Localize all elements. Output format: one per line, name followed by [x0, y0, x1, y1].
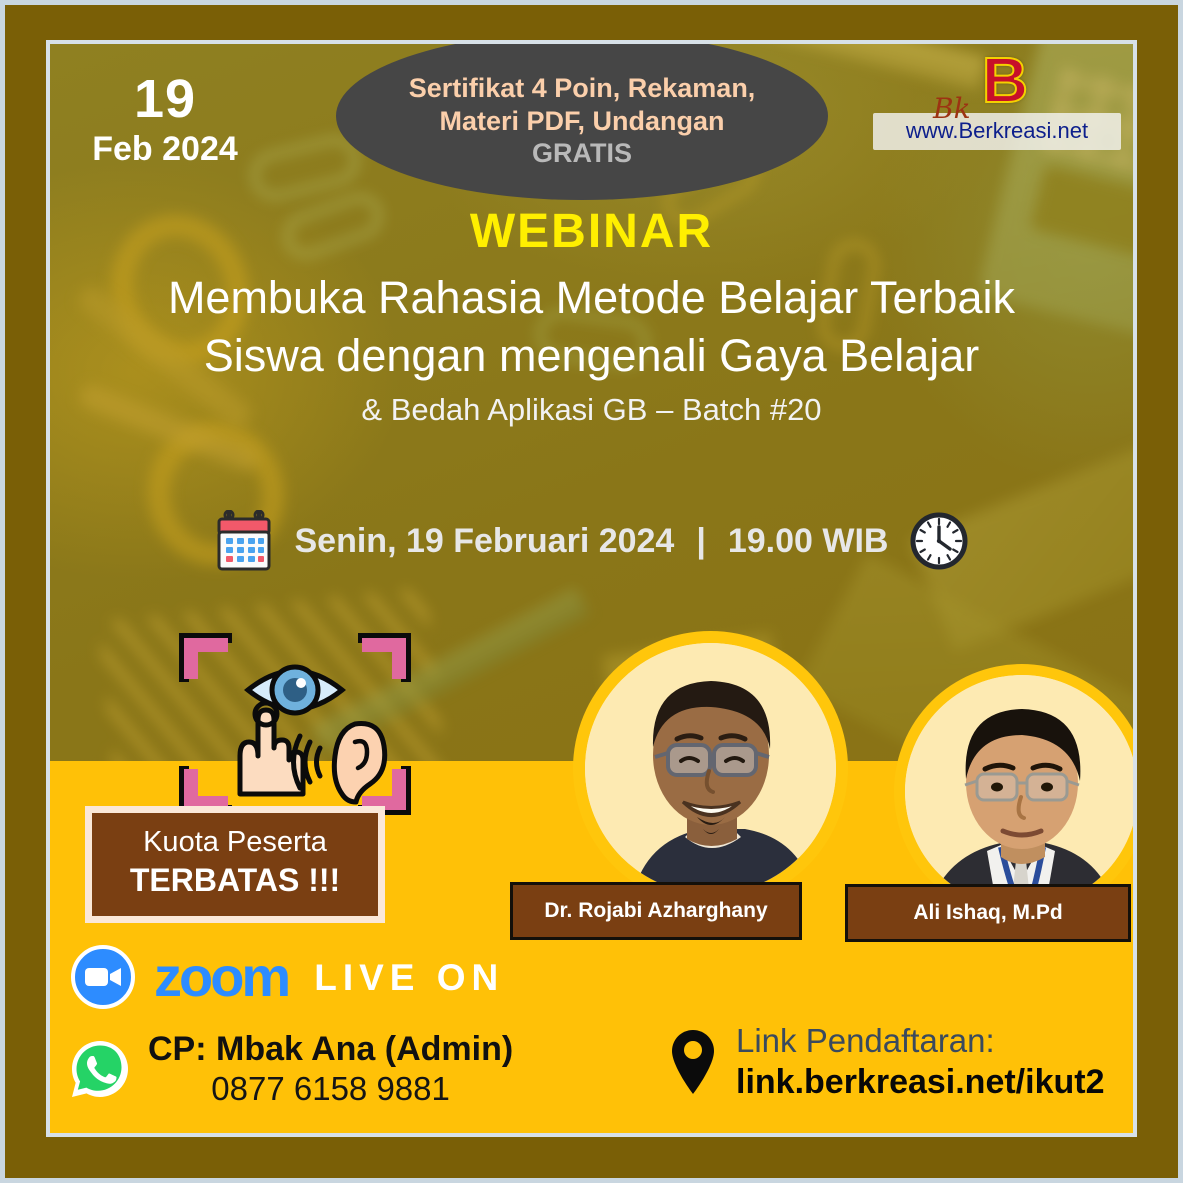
- calendar-icon: [215, 510, 273, 572]
- quota-value: TERBATAS !!!: [98, 861, 372, 899]
- benefits-badge-gratis: GRATIS: [532, 137, 632, 170]
- title-block: WEBINAR Membuka Rahasia Metode Belajar T…: [50, 204, 1133, 428]
- contact-text-block: CP: Mbak Ana (Admin) 0877 6158 9881: [148, 1031, 513, 1111]
- registration-row[interactable]: Link Pendaftaran: link.berkreasi.net/iku…: [668, 1022, 1105, 1103]
- platform-status: LIVE ON: [314, 959, 504, 996]
- schedule-date: Senin, 19 Februari 2024: [295, 522, 675, 561]
- title-subtitle: & Bedah Aplikasi GB – Batch #20: [50, 392, 1133, 428]
- schedule-separator: |: [696, 522, 706, 561]
- zoom-camera-icon: [70, 944, 136, 1010]
- registration-label: Link Pendaftaran:: [736, 1022, 1105, 1060]
- title-line-2: Siswa dengan mengenali Gaya Belajar: [50, 327, 1133, 385]
- platform-row: zoom LIVE ON: [70, 944, 504, 1010]
- webinar-poster: 19 Feb 2024 Sertifikat 4 Poin, Rekaman, …: [0, 0, 1183, 1183]
- benefits-badge-line-1: Sertifikat 4 Poin, Rekaman,: [409, 72, 756, 105]
- speaker-photo-1: [585, 643, 836, 894]
- quota-box: Kuota Peserta TERBATAS !!!: [85, 806, 385, 923]
- speaker-photo-2: [905, 675, 1133, 908]
- title-line-1: Membuka Rahasia Metode Belajar Terbaik: [50, 269, 1133, 327]
- speaker-1-nameplate: Dr. Rojabi Azharghany: [510, 882, 802, 940]
- clock-icon: [910, 512, 968, 570]
- whatsapp-icon: [68, 1031, 132, 1101]
- bg-paperclip-icon: [246, 131, 364, 204]
- speaker-2: [894, 664, 1133, 919]
- brand-logo: B Bk www.Berkreasi.net: [873, 50, 1121, 150]
- date-stamp-month-year: Feb 2024: [90, 132, 240, 166]
- date-stamp-day: 19: [90, 72, 240, 126]
- date-stamp: 19 Feb 2024: [90, 72, 240, 166]
- title-kicker: WEBINAR: [50, 204, 1133, 259]
- registration-text-block: Link Pendaftaran: link.berkreasi.net/iku…: [736, 1022, 1105, 1103]
- contact-person: CP: Mbak Ana (Admin): [148, 1031, 513, 1068]
- learning-styles-icon: [170, 624, 420, 824]
- quota-label: Kuota Peserta: [98, 825, 372, 859]
- schedule-row: Senin, 19 Februari 2024 | 19.00 WIB: [50, 510, 1133, 572]
- contact-row: CP: Mbak Ana (Admin) 0877 6158 9881: [68, 1031, 513, 1111]
- contact-phone: 0877 6158 9881: [148, 1068, 513, 1110]
- ear-icon: [294, 723, 385, 802]
- brand-b-logo-icon: B: [881, 50, 1129, 111]
- poster-canvas: 19 Feb 2024 Sertifikat 4 Poin, Rekaman, …: [50, 44, 1133, 1133]
- location-pin-icon: [668, 1022, 718, 1096]
- speaker-1-ring: [573, 631, 848, 906]
- schedule-time: 19.00 WIB: [728, 522, 889, 561]
- benefits-badge-line-2: Materi PDF, Undangan: [439, 105, 724, 138]
- brand-website: www.Berkreasi.net: [873, 113, 1121, 150]
- speaker-2-ring: [894, 664, 1133, 919]
- speaker-2-nameplate: Ali Ishaq, M.Pd: [845, 884, 1131, 942]
- registration-url[interactable]: link.berkreasi.net/ikut2: [736, 1062, 1105, 1103]
- speaker-1: [573, 631, 848, 906]
- zoom-wordmark: zoom: [154, 949, 288, 1005]
